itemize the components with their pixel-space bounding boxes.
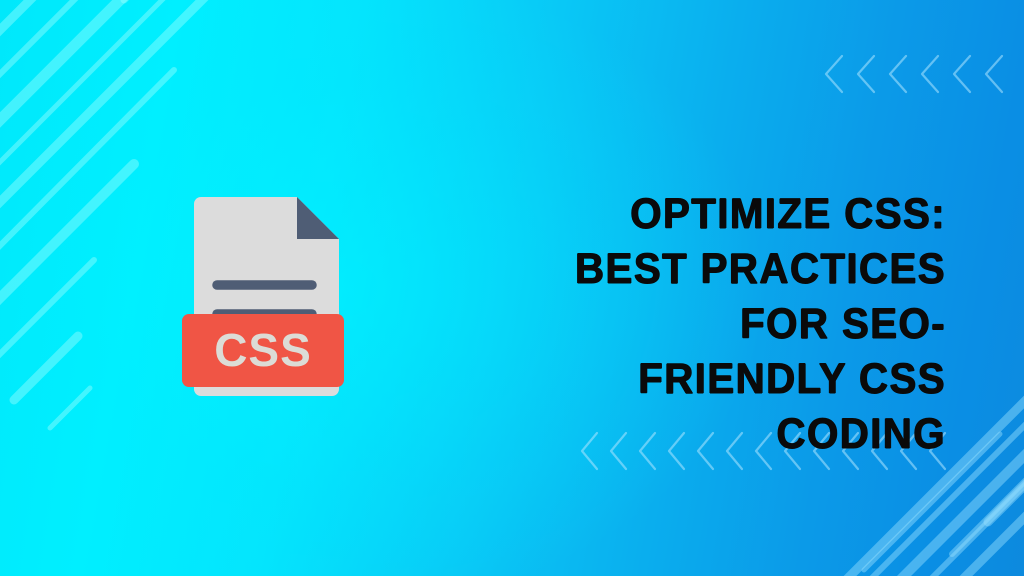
- css-badge-label: CSS: [214, 324, 312, 376]
- css-file-icon: CSS: [180, 192, 346, 400]
- banner-canvas: CSS OPTIMIZE CSS: BEST PRACTICES FOR SEO…: [0, 0, 1024, 576]
- page-title: OPTIMIZE CSS: BEST PRACTICES FOR SEO-FRI…: [542, 187, 946, 462]
- folded-corner: [297, 197, 339, 239]
